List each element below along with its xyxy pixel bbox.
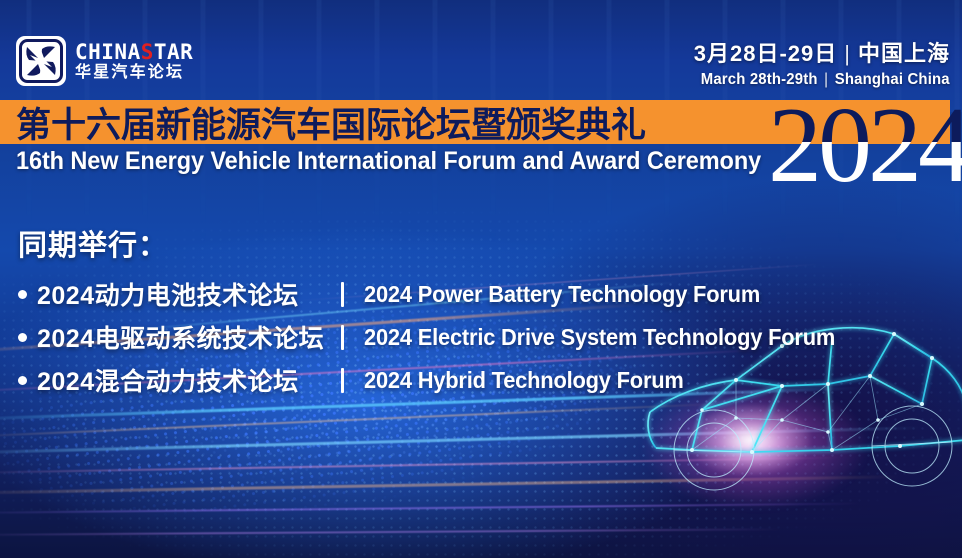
event-date-location: 3月28日-29日|中国上海 March 28th-29th|Shanghai … bbox=[682, 40, 950, 90]
concurrent-forums: 同期举行： 2024动力电池技术论坛2024 Power Battery Tec… bbox=[18, 222, 860, 405]
page-title-en: 16th New Energy Vehicle International Fo… bbox=[16, 147, 761, 176]
location-cn-value: 中国上海 bbox=[858, 41, 950, 66]
date-line-en: March 28th-29th|Shanghai China bbox=[701, 70, 950, 91]
year-numeral: 2024 bbox=[768, 92, 962, 200]
forum-divider bbox=[341, 368, 344, 393]
bullet-icon bbox=[18, 376, 27, 385]
forums-list: 2024动力电池技术论坛2024 Power Battery Technolog… bbox=[18, 276, 860, 398]
date-cn-separator: | bbox=[837, 40, 858, 68]
date-cn-value: 3月28日-29日 bbox=[694, 41, 838, 66]
bullet-icon bbox=[18, 290, 27, 299]
forum-item: 2024混合动力技术论坛2024 Hybrid Technology Forum bbox=[18, 362, 860, 398]
forum-item: 2024动力电池技术论坛2024 Power Battery Technolog… bbox=[18, 276, 860, 312]
chinastar-logo[interactable]: CHINASTAR 华星汽车论坛 bbox=[16, 36, 193, 86]
event-poster: CHINASTAR 华星汽车论坛 3月28日-29日|中国上海 March 28… bbox=[0, 0, 962, 558]
star-burst-square-icon bbox=[16, 36, 66, 86]
forum-item: 2024电驱动系统技术论坛2024 Electric Drive System … bbox=[18, 319, 860, 355]
forum-divider bbox=[341, 282, 344, 307]
forum-name-en: 2024 Hybrid Technology Forum bbox=[364, 367, 684, 394]
logo-name-en-s: S bbox=[141, 40, 154, 64]
logo-name-en-part1: CHINA bbox=[75, 40, 141, 64]
forum-name-en: 2024 Electric Drive System Technology Fo… bbox=[364, 324, 835, 351]
location-en-value: Shanghai China bbox=[835, 71, 950, 88]
forum-name-cn: 2024电驱动系统技术论坛 bbox=[37, 319, 337, 355]
logo-name-en: CHINASTAR bbox=[75, 42, 193, 63]
forum-name-en: 2024 Power Battery Technology Forum bbox=[364, 281, 760, 308]
date-en-separator: | bbox=[818, 70, 835, 91]
bullet-icon bbox=[18, 333, 27, 342]
page-title-cn: 第十六届新能源汽车国际论坛暨颁奖典礼 bbox=[16, 100, 646, 144]
forum-divider bbox=[341, 325, 344, 350]
logo-name-en-part2: TAR bbox=[154, 40, 193, 64]
forum-name-cn: 2024动力电池技术论坛 bbox=[37, 276, 337, 312]
logo-text: CHINASTAR 华星汽车论坛 bbox=[75, 42, 193, 81]
forums-heading: 同期举行： bbox=[18, 222, 860, 264]
forum-name-cn: 2024混合动力技术论坛 bbox=[37, 362, 337, 398]
logo-name-cn: 华星汽车论坛 bbox=[75, 65, 193, 81]
date-line-cn: 3月28日-29日|中国上海 bbox=[682, 40, 950, 68]
date-en-value: March 28th-29th bbox=[701, 71, 818, 88]
